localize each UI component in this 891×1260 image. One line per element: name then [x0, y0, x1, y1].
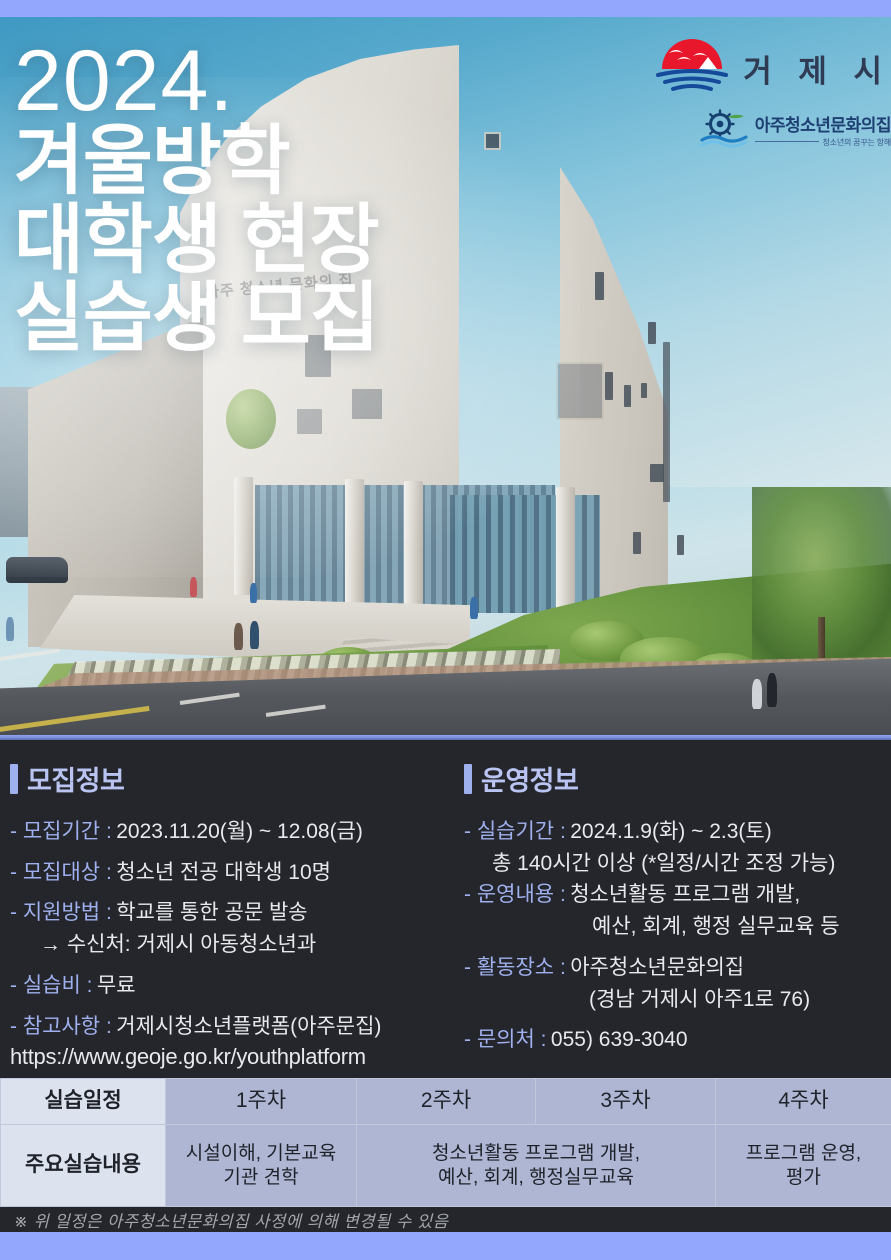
operation-info-column: 운영정보 - 실습기간 : 2024.1.9(화) ~ 2.3(토) 총 140…: [464, 759, 891, 1067]
pedestrian: [470, 597, 478, 619]
content-week4-line1: 프로그램 운영,: [746, 1143, 861, 1164]
facade-slit-icon: [648, 322, 656, 344]
facade-slit-icon: [677, 535, 684, 555]
content-week1-line1: 시설이해, 기본교육: [186, 1143, 336, 1164]
youth-center-logo: 아주청소년문화의집 청소년의 꿈꾸는 항해: [653, 109, 891, 149]
hero-photo: 아주 청소년 문화의 집 2024. 겨울방학: [0, 17, 891, 735]
operation-contact-label: - 문의처 :: [464, 1028, 546, 1051]
pedestrian: [767, 673, 777, 707]
recruit-method-value: 학교를 통한 공문 발송: [116, 901, 307, 924]
headline-line-1: 겨울방학: [14, 123, 379, 201]
youth-center-name: 아주청소년문화의집: [755, 111, 891, 136]
table-cell-week-3: 3주차: [536, 1079, 716, 1125]
operation-period-sub: 총 140시간 이상 (*일정/시간 조정 가능): [464, 850, 891, 878]
geoje-city-name: 거 제 시: [743, 46, 891, 91]
bottom-accent-bar: [0, 1232, 891, 1260]
table-header-contents: 주요실습내용: [1, 1125, 166, 1207]
pedestrian: [234, 623, 243, 650]
operation-item-place: - 활동장소 : 아주청소년문화의집: [464, 954, 891, 982]
section-accent-bar: [10, 764, 18, 794]
pedestrian: [190, 577, 197, 597]
youth-tagline-row: 청소년의 꿈꾸는 항해: [755, 136, 891, 148]
table-cell-content-week-1: 시설이해, 기본교육 기관 견학: [166, 1125, 357, 1207]
building-column: [556, 487, 575, 617]
recruit-info-column: 모집정보 - 모집기간 : 2023.11.20(월) ~ 12.08(금) -…: [10, 759, 462, 1070]
headline-year: 2024.: [14, 39, 379, 123]
operation-place-label: - 활동장소 :: [464, 956, 566, 979]
poster-root: 아주 청소년 문화의 집 2024. 겨울방학: [0, 0, 891, 1260]
operation-place-value: 아주청소년문화의집: [570, 956, 744, 979]
recruit-target-value: 청소년 전공 대학생 10명: [116, 861, 331, 884]
operation-item-period: - 실습기간 : 2024.1.9(화) ~ 2.3(토): [464, 818, 891, 846]
operation-content-sub: 예산, 회계, 행정 실무교육 등: [464, 913, 891, 941]
operation-section-header: 운영정보: [464, 759, 891, 798]
table-cell-week-4: 4주차: [716, 1079, 891, 1125]
building-column: [234, 477, 253, 595]
facade-slit-icon: [595, 272, 604, 300]
recruit-item-method: - 지원방법 : 학교를 통한 공문 발송: [10, 899, 462, 927]
tree-small: [226, 389, 276, 449]
facade-slit-icon: [641, 383, 647, 398]
content-week1-line2: 기관 견학: [223, 1167, 298, 1188]
recruit-item-target: - 모집대상 : 청소년 전공 대학생 10명: [10, 859, 462, 887]
recruit-fee-label: - 실습비 :: [10, 974, 92, 997]
table-row-contents: 주요실습내용 시설이해, 기본교육 기관 견학 청소년활동 프로그램 개발, 예…: [1, 1125, 891, 1207]
facade-slit-icon: [624, 385, 631, 407]
operation-period-label: - 실습기간 :: [464, 820, 566, 843]
parked-car: [6, 557, 68, 583]
table-cell-content-week-4: 프로그램 운영, 평가: [716, 1125, 891, 1207]
operation-period-value: 2024.1.9(화) ~ 2.3(토): [570, 820, 771, 843]
recruit-note-value: 거제시청소년플랫폼(아주문집): [116, 1015, 381, 1038]
recruit-method-sub: → 수신처: 거제시 아동청소년과: [10, 931, 462, 959]
content-week4-line2: 평가: [786, 1167, 821, 1188]
operation-content-value: 청소년활동 프로그램 개발,: [570, 883, 800, 906]
panel-divider: [0, 735, 891, 740]
building-column: [345, 479, 364, 619]
table-row-weeks: 실습일정 1주차 2주차 3주차 4주차: [1, 1079, 891, 1125]
facade-slit-icon: [633, 532, 641, 554]
info-panel: 모집정보 - 모집기간 : 2023.11.20(월) ~ 12.08(금) -…: [0, 735, 891, 1078]
facade-slit-icon: [650, 464, 664, 482]
recruit-item-fee: - 실습비 : 무료: [10, 972, 462, 1000]
recruit-note-label: - 참고사항 :: [10, 1015, 112, 1038]
facade-window-icon: [556, 362, 604, 420]
recruit-item-list: - 모집기간 : 2023.11.20(월) ~ 12.08(금) - 모집대상…: [10, 818, 462, 1070]
recruit-platform-url[interactable]: https://www.geoje.go.kr/youthplatform: [10, 1044, 462, 1070]
content-week23-line2: 예산, 회계, 행정실무교육: [438, 1167, 634, 1188]
glass-curtain-wall-right: [450, 495, 600, 613]
table-cell-week-2: 2주차: [357, 1079, 536, 1125]
facade-seam-icon: [663, 342, 670, 502]
operation-content-value-2: 예산, 회계, 행정 실무교육 등: [592, 913, 891, 941]
pedestrian: [250, 583, 257, 603]
headline-line-2: 대학생 현장: [14, 202, 379, 280]
recruit-section-header: 모집정보: [10, 759, 462, 798]
recruit-item-note: - 참고사항 : 거제시청소년플랫폼(아주문집): [10, 1013, 462, 1041]
table-header-schedule: 실습일정: [1, 1079, 166, 1125]
recruit-heading: 모집정보: [27, 759, 124, 798]
operation-heading: 운영정보: [481, 759, 578, 798]
table-cell-week-1: 1주차: [166, 1079, 357, 1125]
schedule-table-wrapper: 실습일정 1주차 2주차 3주차 4주차 주요실습내용 시설이해, 기본교육 기…: [0, 1078, 891, 1207]
operation-content-label: - 운영내용 :: [464, 883, 566, 906]
content-week23-line1: 청소년활동 프로그램 개발,: [432, 1143, 640, 1164]
pedestrian: [6, 617, 14, 641]
building-column: [404, 481, 423, 621]
operation-contact-value[interactable]: 055) 639-3040: [551, 1028, 688, 1051]
operation-item-list: - 실습기간 : 2024.1.9(화) ~ 2.3(토) 총 140시간 이상…: [464, 818, 891, 1054]
recruit-method-label: - 지원방법 :: [10, 901, 112, 924]
operation-item-contact: - 문의처 : 055) 639-3040: [464, 1026, 891, 1054]
youth-center-tagline: 청소년의 꿈꾸는 항해: [823, 137, 891, 148]
facade-window-icon: [484, 132, 501, 150]
facade-window-icon: [352, 389, 382, 419]
section-accent-bar: [464, 764, 472, 794]
operation-place-sub: (경남 거제시 아주1로 76): [464, 986, 891, 1014]
top-accent-bar: [0, 0, 891, 17]
schedule-footnote: ※ 위 일정은 아주청소년문화의집 사정에 의해 변경될 수 있음: [0, 1207, 891, 1232]
recruit-target-label: - 모집대상 :: [10, 861, 112, 884]
recruit-item-period: - 모집기간 : 2023.11.20(월) ~ 12.08(금): [10, 818, 462, 846]
geoje-sun-sea-icon: [653, 37, 731, 99]
facade-window-icon: [297, 409, 322, 434]
headline-line-3: 실습생 모집: [14, 280, 379, 358]
logo-block: 거 제 시: [653, 37, 891, 149]
recruit-period-label: - 모집기간 :: [10, 820, 112, 843]
recruit-period-value: 2023.11.20(월) ~ 12.08(금): [116, 820, 363, 843]
table-cell-content-week-2-3: 청소년활동 프로그램 개발, 예산, 회계, 행정실무교육: [357, 1125, 716, 1207]
geoje-city-logo: 거 제 시: [653, 37, 891, 99]
pedestrian: [250, 621, 259, 649]
recruit-method-recipient: → 수신처: 거제시 아동청소년과: [40, 931, 462, 959]
headline-block: 2024. 겨울방학 대학생 현장 실습생 모집: [14, 39, 379, 358]
operation-total-hours: 총 140시간 이상 (*일정/시간 조정 가능): [492, 850, 891, 878]
lane-marking: [0, 649, 60, 661]
youth-logo-text: 아주청소년문화의집 청소년의 꿈꾸는 항해: [755, 111, 891, 148]
tagline-rule: [755, 141, 819, 142]
recruit-fee-value: 무료: [97, 974, 136, 997]
schedule-table: 실습일정 1주차 2주차 3주차 4주차 주요실습내용 시설이해, 기본교육 기…: [0, 1078, 891, 1207]
operation-place-address: (경남 거제시 아주1로 76): [589, 986, 891, 1014]
pedestrian: [752, 679, 762, 709]
facade-slit-icon: [605, 372, 613, 400]
operation-item-content: - 운영내용 : 청소년활동 프로그램 개발,: [464, 881, 891, 909]
ships-wheel-wave-icon: [700, 109, 748, 149]
